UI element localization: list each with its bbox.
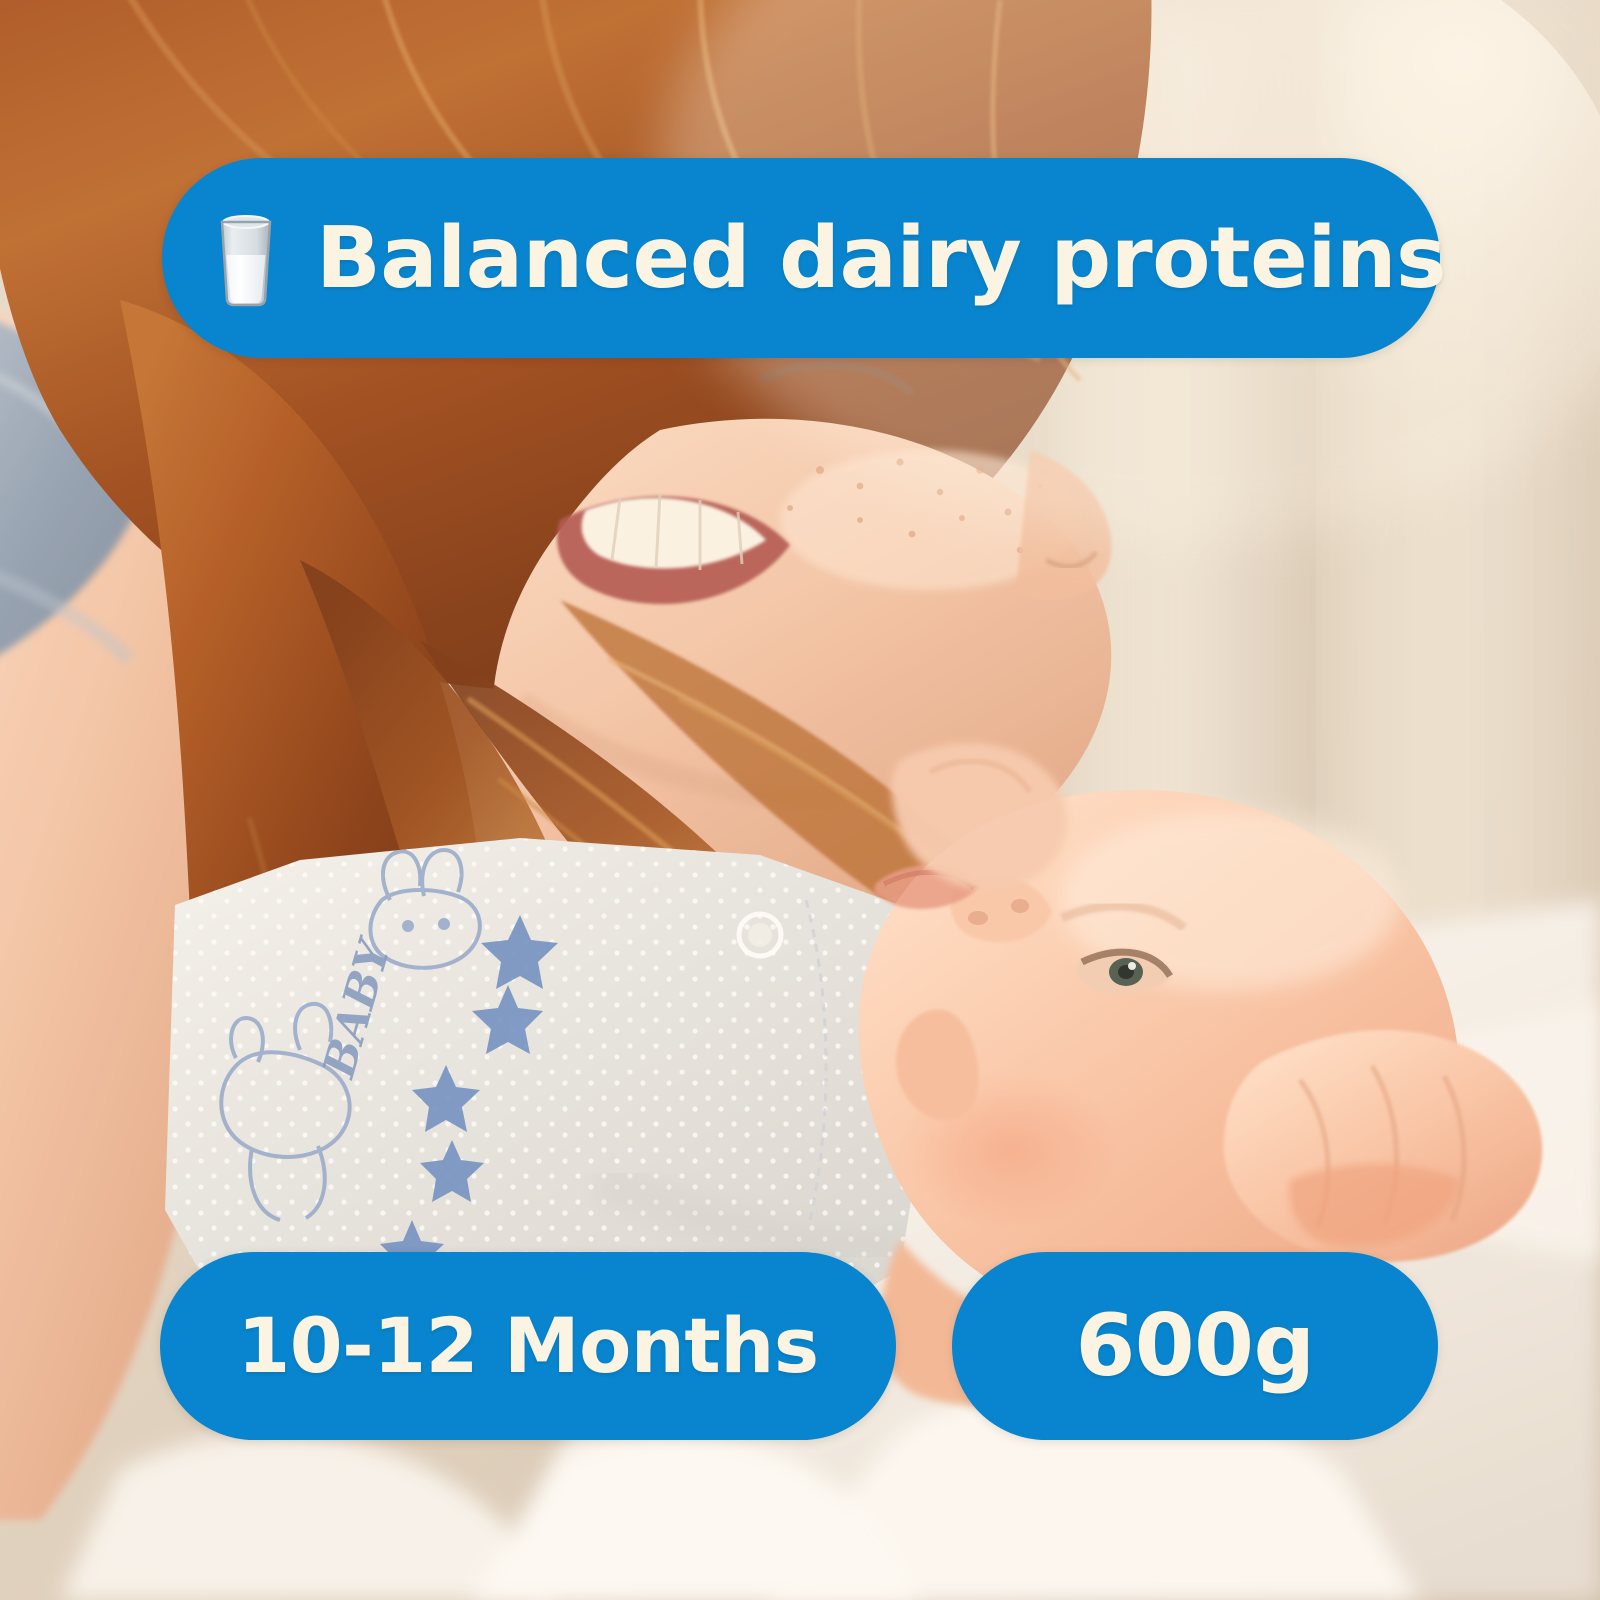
glass-of-milk-icon	[210, 208, 282, 308]
weight-badge: 600g	[952, 1252, 1438, 1440]
age-range-badge: 10-12 Months	[160, 1252, 896, 1440]
age-range-badge-label: 10-12 Months	[237, 1308, 818, 1384]
headline-badge: Balanced dairy proteins	[162, 158, 1440, 358]
product-feature-image: BABY	[0, 0, 1600, 1600]
weight-badge-label: 600g	[1075, 1303, 1314, 1389]
headline-badge-label: Balanced dairy proteins	[316, 216, 1446, 301]
